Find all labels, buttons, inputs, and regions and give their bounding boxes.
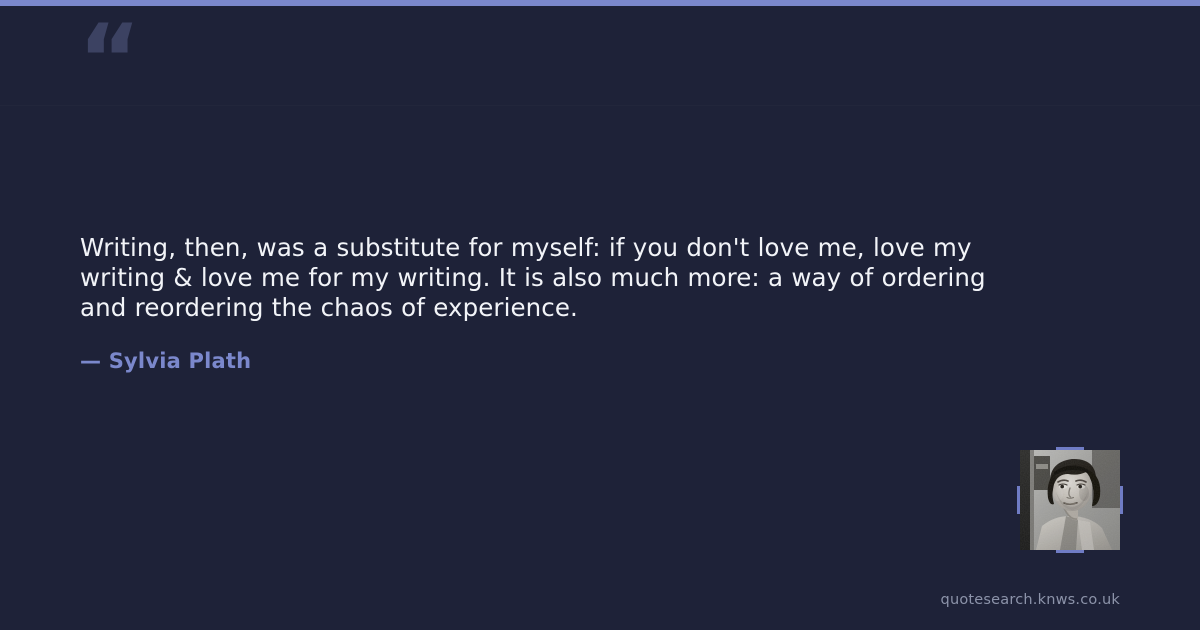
open-quote-icon: “	[78, 12, 139, 108]
quote-attribution: — Sylvia Plath	[80, 349, 251, 373]
author-portrait	[1020, 450, 1120, 550]
top-accent-bar	[0, 0, 1200, 6]
source-url[interactable]: quotesearch.knws.co.uk	[941, 592, 1120, 608]
portrait-tick-bottom	[1056, 550, 1084, 553]
section-divider	[0, 105, 1200, 106]
quote-text: Writing, then, was a substitute for myse…	[80, 233, 1010, 323]
portrait-tick-left	[1017, 486, 1020, 514]
portrait-tick-top	[1056, 447, 1084, 450]
quote-block: Writing, then, was a substitute for myse…	[80, 233, 1010, 323]
author-portrait-photo	[1020, 450, 1120, 550]
portrait-tick-right	[1120, 486, 1123, 514]
quote-card: “ Writing, then, was a substitute for my…	[0, 0, 1200, 630]
